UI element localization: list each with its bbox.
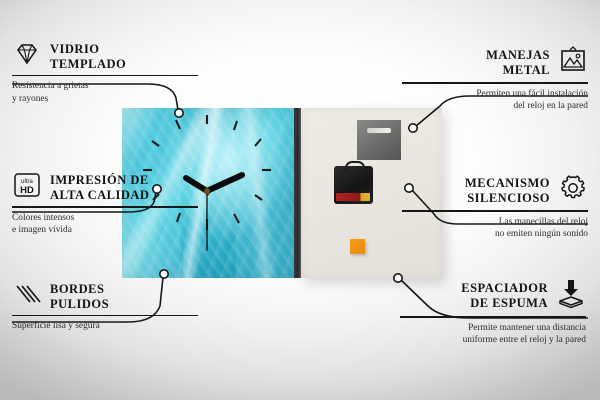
feature-rule — [12, 75, 198, 77]
feature-rule — [402, 210, 588, 212]
metal-hanger-plate — [357, 120, 401, 160]
diamond-icon — [12, 42, 42, 71]
clock-glass-edge — [294, 108, 301, 278]
feature-desc: Las manecillas del reloj no emiten ningú… — [402, 216, 588, 241]
feature-rule — [12, 206, 198, 208]
feature-manejas-metal: MANEJAS METAL Permiten una fácil instala… — [402, 46, 588, 112]
feature-desc: Permiten una fácil instalación del reloj… — [402, 88, 588, 113]
picture-frame-hanger-icon — [558, 46, 588, 79]
gear-icon — [558, 174, 588, 207]
ultra-hd-icon: ultra HD — [12, 172, 42, 203]
arrow-down-pad-icon — [556, 278, 586, 313]
movement-hanging-loop — [345, 161, 365, 171]
feature-desc: Colores intensos e imagen vívida — [12, 212, 198, 237]
feature-vidrio-templado: VIDRIO TEMPLADO Resistencia a grietas y … — [12, 42, 198, 105]
feature-title: VIDRIO TEMPLADO — [50, 42, 126, 72]
svg-text:HD: HD — [20, 185, 34, 196]
feature-espaciador-de-espuma: ESPACIADOR DE ESPUMA Permite mantener un… — [400, 278, 586, 346]
feature-rule — [12, 315, 198, 317]
feature-title: MECANISMO SILENCIOSO — [465, 176, 550, 206]
feature-bordes-pulidos: BORDES PULIDOS Superficie lisa y segura — [12, 282, 198, 333]
feature-rule — [400, 316, 586, 318]
feature-mecanismo-silencioso: MECANISMO SILENCIOSO Las manecillas del … — [402, 174, 588, 240]
feature-title: ESPACIADOR DE ESPUMA — [461, 281, 548, 311]
battery — [336, 193, 370, 201]
diagonal-lines-icon — [12, 282, 42, 311]
feature-impresion-alta-calidad: ultra HD IMPRESIÓN DE ALTA CALIDAD Color… — [12, 172, 198, 236]
feature-title: IMPRESIÓN DE ALTA CALIDAD — [50, 173, 149, 203]
feature-desc: Permite mantener una distancia uniforme … — [400, 322, 586, 347]
clock-movement-box — [334, 166, 373, 204]
feature-desc: Superficie lisa y segura — [12, 320, 198, 332]
feature-title: BORDES PULIDOS — [50, 282, 109, 312]
clock-center-pivot — [205, 191, 210, 196]
feature-rule — [402, 82, 588, 84]
foam-spacer — [350, 239, 365, 254]
feature-title: MANEJAS METAL — [486, 48, 550, 78]
product-infographic: VIDRIO TEMPLADO Resistencia a grietas y … — [0, 0, 600, 400]
feature-desc: Resistencia a grietas y rayones — [12, 80, 198, 105]
hanger-keyhole-slot — [367, 128, 391, 133]
